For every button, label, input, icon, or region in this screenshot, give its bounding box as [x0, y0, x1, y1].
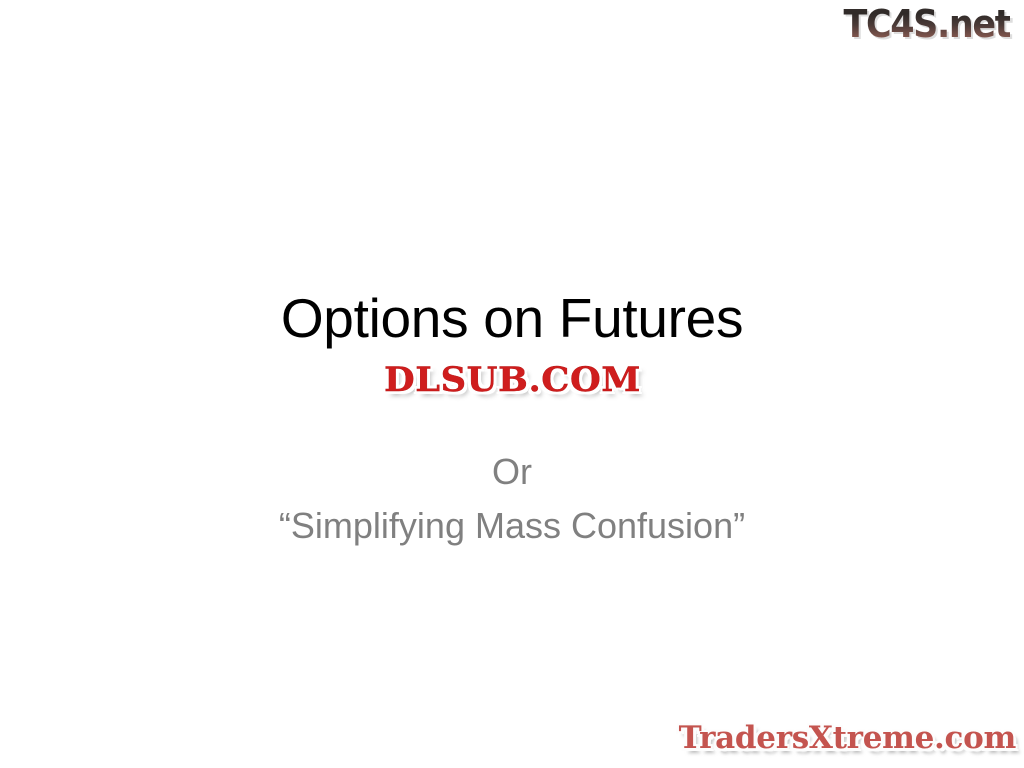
tradersxtreme-watermark-text: TradersXtreme.com: [679, 718, 1016, 758]
tradersxtreme-watermark: TradersXtreme.com: [679, 718, 1016, 758]
presentation-slide: TC4S.net TC4S.net Options on Futures DLS…: [0, 0, 1024, 768]
title-placeholder: Options on Futures: [0, 288, 1024, 348]
slide-title: Options on Futures: [0, 288, 1024, 348]
subtitle-line-1: Or: [0, 445, 1024, 499]
dlsub-watermark-text: DLSUB.COM: [384, 360, 641, 400]
subtitle-line-2: “Simplifying Mass Confusion”: [0, 499, 1024, 553]
dlsub-watermark: DLSUB.COM: [0, 360, 1024, 400]
subtitle-placeholder: Or “Simplifying Mass Confusion”: [0, 445, 1024, 553]
tc4s-watermark-text: TC4S.net: [843, 2, 1010, 46]
